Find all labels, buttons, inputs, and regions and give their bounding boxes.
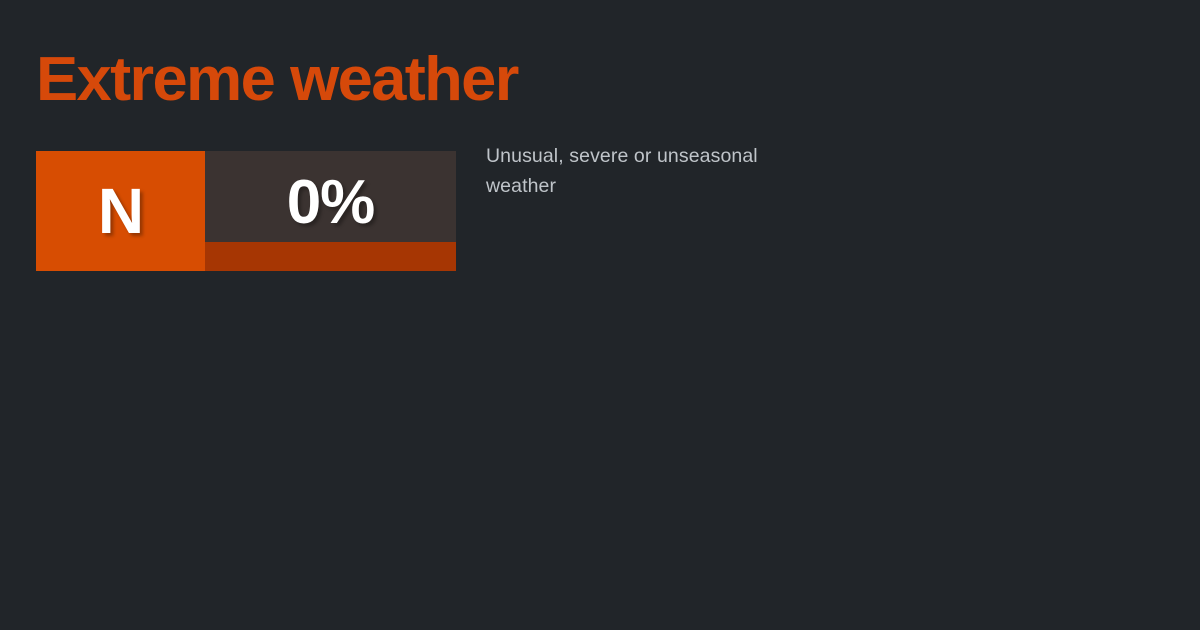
value-block: 0% [205, 151, 456, 271]
score-card[interactable]: N 0% [36, 151, 456, 271]
grade-block: N [36, 151, 205, 271]
grade-letter: N [98, 179, 143, 243]
progress-track [205, 242, 456, 271]
page-title: Extreme weather [36, 49, 518, 111]
page-root: Extreme weather N 0% Unusual, severe or … [0, 0, 1200, 630]
description-text: Unusual, severe or unseasonal weather [486, 141, 806, 201]
score-percent-value: 0% [287, 172, 375, 234]
